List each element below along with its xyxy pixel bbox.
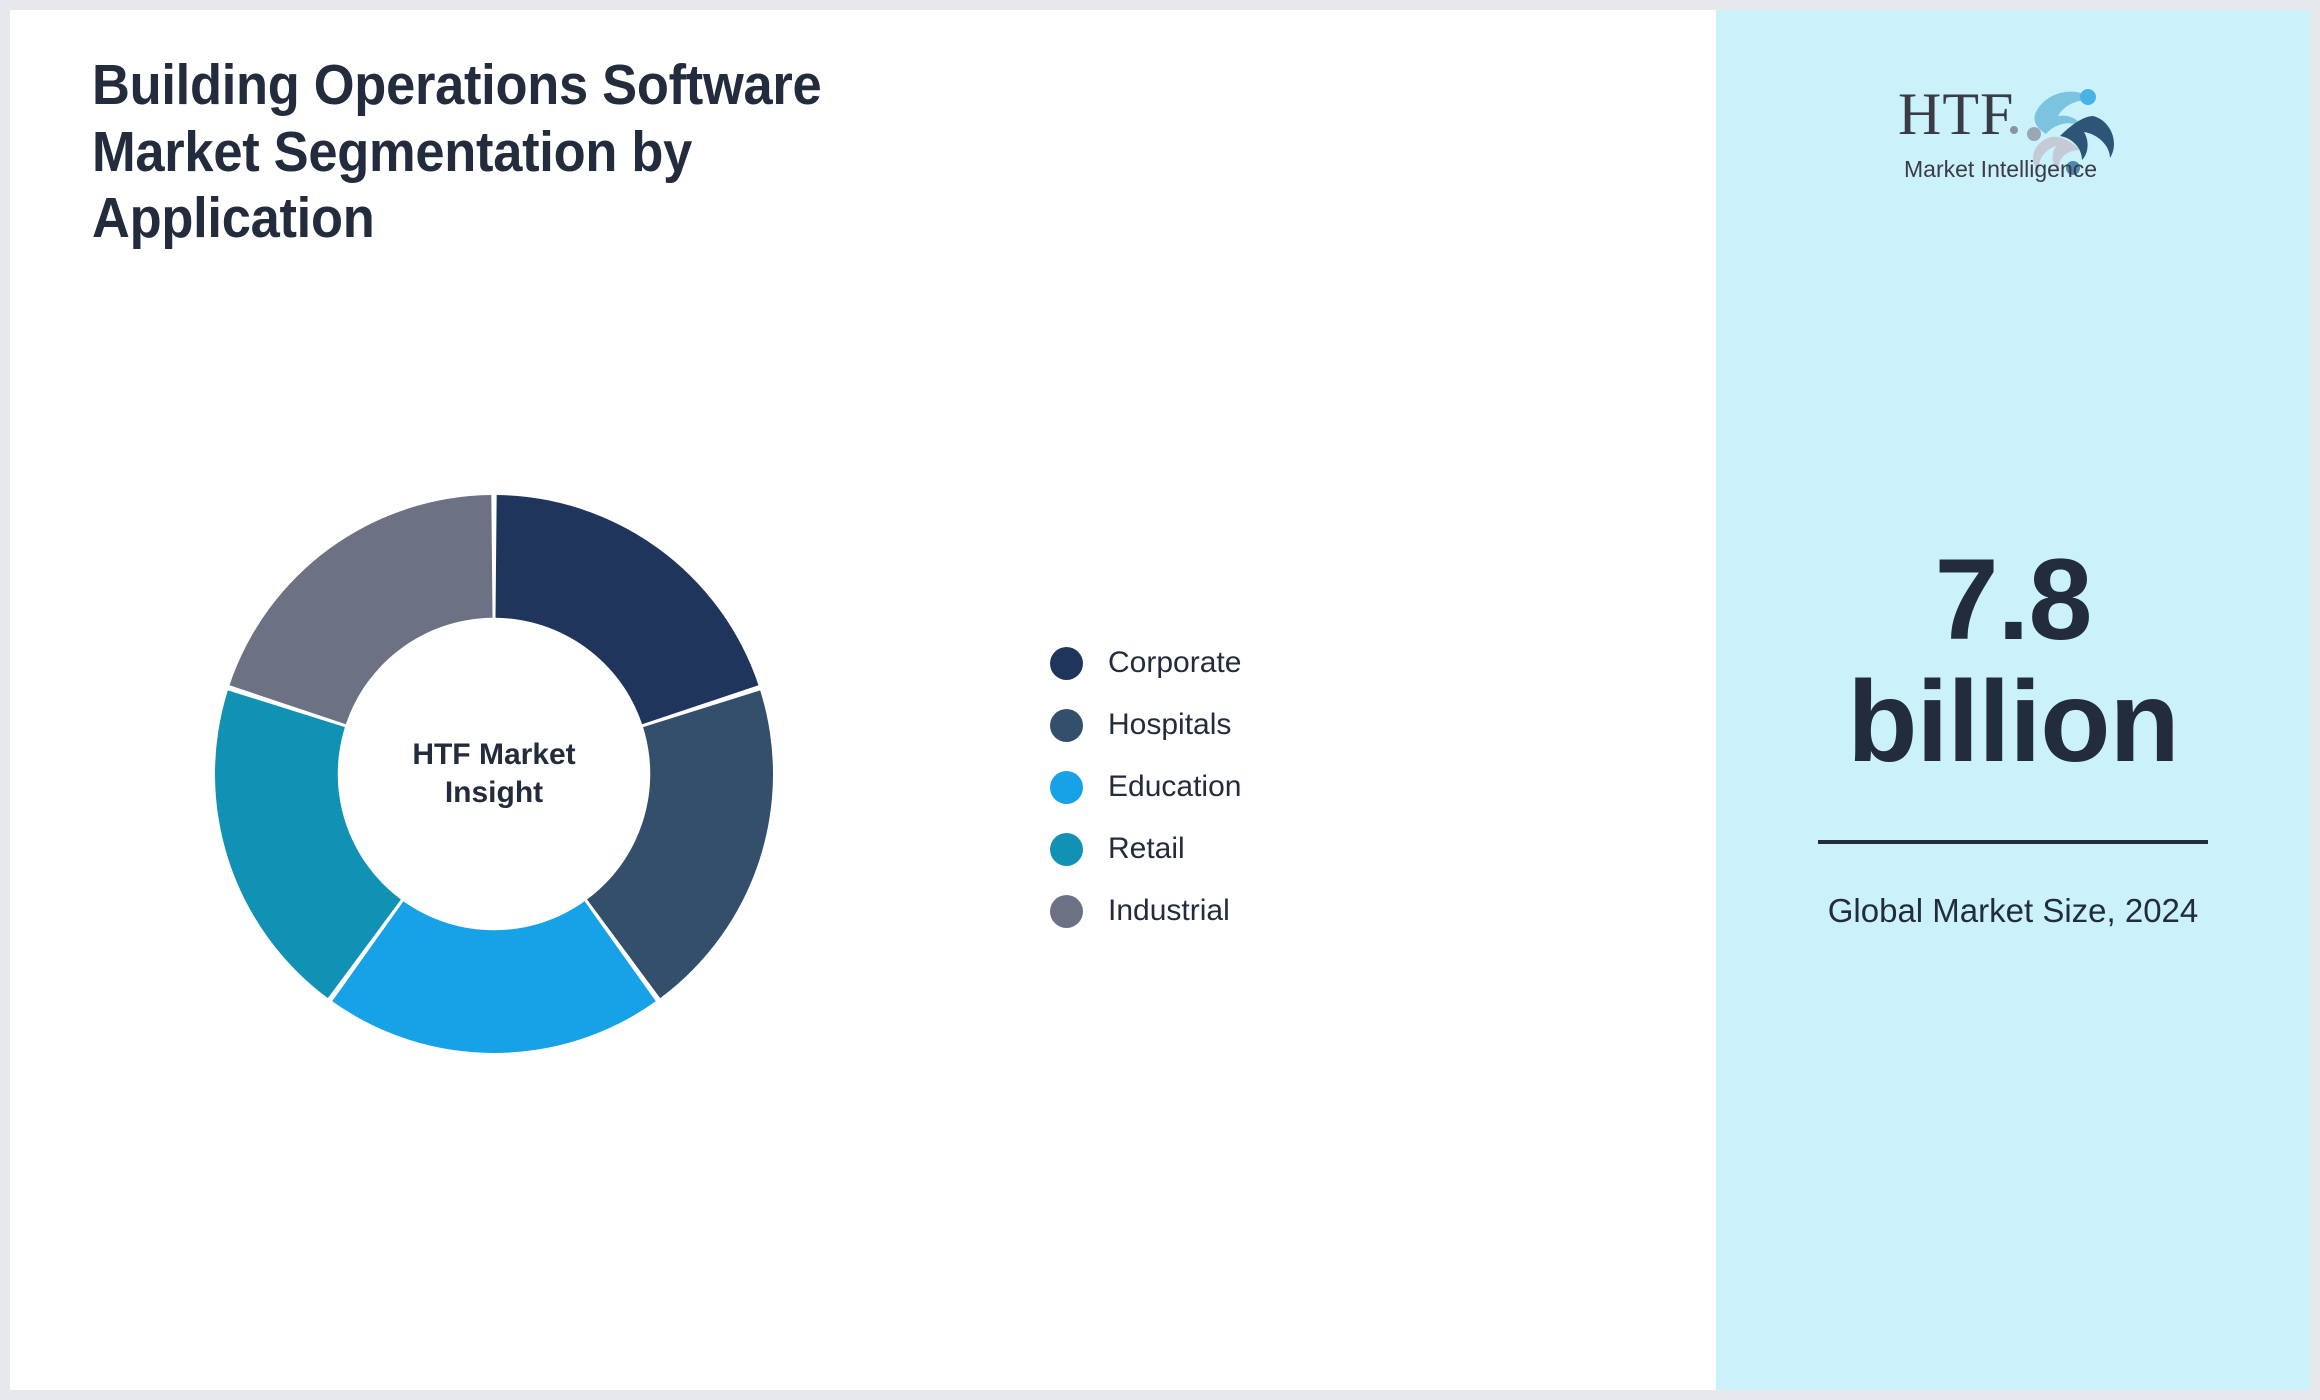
legend-item-education[interactable]: Education [1050, 756, 1241, 818]
legend-item-label: Hospitals [1108, 708, 1231, 742]
chart-legend: Corporate Hospitals Education Retail Ind… [1050, 632, 1241, 942]
legend-item-label: Retail [1108, 832, 1185, 866]
donut-slice-industrial[interactable] [229, 495, 492, 724]
side-panel: HTF Market Intellig [1716, 10, 2310, 1390]
legend-swatch-icon [1050, 647, 1083, 680]
infographic-card: Building Operations Software Market Segm… [10, 10, 2310, 1390]
legend-item-retail[interactable]: Retail [1050, 818, 1241, 880]
legend-item-label: Education [1108, 770, 1241, 804]
legend-swatch-icon [1050, 895, 1083, 928]
page-title: Building Operations Software Market Segm… [92, 52, 837, 252]
infographic-root: Building Operations Software Market Segm… [0, 0, 2320, 1400]
legend-item-hospitals[interactable]: Hospitals [1050, 694, 1241, 756]
htf-market-intelligence-logo: HTF Market Intellig [1888, 72, 2138, 192]
svg-text:HTF: HTF [1898, 81, 2014, 147]
htf-swirl-figures-logo-icon: HTF Market Intellig [1888, 72, 2138, 192]
legend-swatch-icon [1050, 833, 1083, 866]
legend-item-label: Industrial [1108, 894, 1230, 928]
legend-swatch-icon [1050, 709, 1083, 742]
stat-caption: Global Market Size, 2024 [1823, 888, 2203, 935]
donut-chart: HTF Market Insight [215, 495, 773, 1053]
donut-chart-svg [215, 495, 773, 1053]
stat-divider [1818, 840, 2208, 844]
main-pane: Building Operations Software Market Segm… [10, 10, 1716, 1390]
legend-item-industrial[interactable]: Industrial [1050, 880, 1241, 942]
svg-text:Market Intelligence: Market Intelligence [1904, 156, 2097, 182]
donut-slice-corporate[interactable] [495, 495, 758, 724]
brand-logo: HTF Market Intellig [1716, 72, 2310, 192]
stat-block: 7.8 billion Global Market Size, 2024 [1716, 540, 2310, 935]
legend-item-label: Corporate [1108, 646, 1241, 680]
legend-swatch-icon [1050, 771, 1083, 804]
stat-value: 7.8 billion [1803, 540, 2223, 784]
legend-item-corporate[interactable]: Corporate [1050, 632, 1241, 694]
